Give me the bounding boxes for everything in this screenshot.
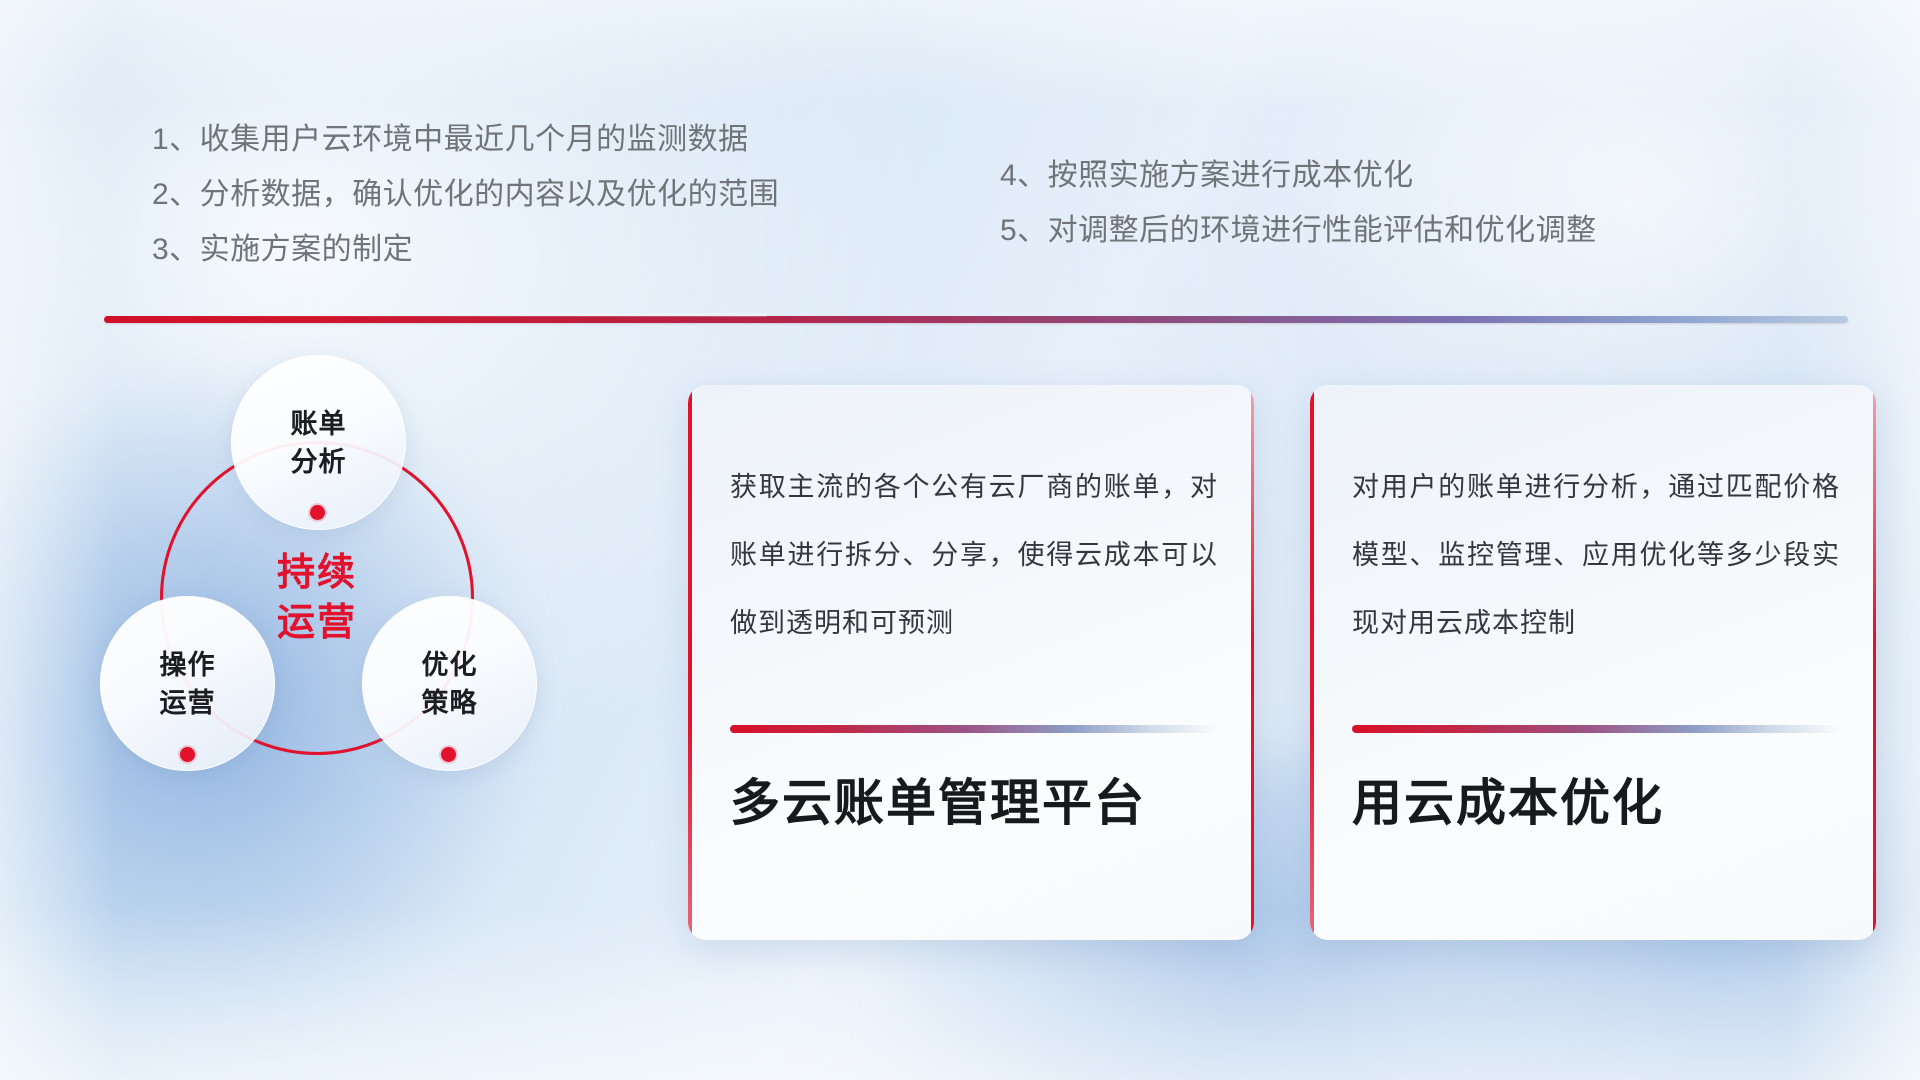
- card-description: 对用户的账单进行分析，通过匹配价格模型、监控管理、应用优化等多少段实现对用云成本…: [1352, 453, 1840, 657]
- venn-node-dot-bottom-right: [441, 747, 456, 762]
- steps-column-right: 4、按照实施方案进行成本优化 5、对调整后的环境进行性能评估和优化调整: [1000, 148, 1597, 258]
- steps-column-left: 1、收集用户云环境中最近几个月的监测数据 2、分析数据，确认优化的内容以及优化的…: [152, 112, 779, 277]
- feature-card-multicloud-billing[interactable]: 获取主流的各个公有云厂商的账单，对账单进行拆分、分享，使得云成本可以做到透明和可…: [688, 385, 1254, 940]
- venn-circle-label: 操作 运营: [160, 646, 216, 722]
- venn-circle-right-line-2: 策略: [422, 688, 478, 718]
- venn-circle-left-line-1: 操作: [160, 650, 216, 680]
- card-title: 用云成本优化: [1352, 767, 1846, 839]
- step-item-5: 5、对调整后的环境进行性能评估和优化调整: [1000, 203, 1597, 258]
- venn-diagram: 持续 运营 账单 分析 操作 运营 优化 策略: [100, 355, 630, 945]
- venn-node-dot-top: [310, 505, 325, 520]
- venn-center-label: 持续 运营: [277, 548, 357, 648]
- card-title: 多云账单管理平台: [730, 767, 1224, 839]
- venn-circle-operations[interactable]: 操作 运营: [100, 596, 275, 771]
- venn-circle-bill-analysis[interactable]: 账单 分析: [231, 355, 406, 530]
- venn-circle-label: 账单 分析: [291, 405, 347, 481]
- card-description: 获取主流的各个公有云厂商的账单，对账单进行拆分、分享，使得云成本可以做到透明和可…: [730, 453, 1218, 657]
- venn-node-dot-bottom-left: [180, 747, 195, 762]
- step-item-2: 2、分析数据，确认优化的内容以及优化的范围: [152, 167, 779, 222]
- card-accent-rule: [730, 725, 1218, 733]
- venn-center-line-2: 运营: [277, 602, 357, 644]
- step-item-1: 1、收集用户云环境中最近几个月的监测数据: [152, 112, 779, 167]
- venn-circle-label: 优化 策略: [422, 646, 478, 722]
- venn-circle-top-line-1: 账单: [291, 409, 347, 439]
- venn-circle-left-line-2: 运营: [160, 688, 216, 718]
- section-divider: [104, 316, 1848, 323]
- background-left-highlight: [0, 0, 115, 1080]
- venn-circle-top-line-2: 分析: [291, 447, 347, 477]
- venn-circle-right-line-1: 优化: [422, 650, 478, 680]
- step-item-4: 4、按照实施方案进行成本优化: [1000, 148, 1597, 203]
- step-item-3: 3、实施方案的制定: [152, 222, 779, 277]
- card-accent-rule: [1352, 725, 1840, 733]
- venn-center-line-1: 持续: [277, 552, 357, 594]
- feature-card-cloud-cost-optimization[interactable]: 对用户的账单进行分析，通过匹配价格模型、监控管理、应用优化等多少段实现对用云成本…: [1310, 385, 1876, 940]
- background-top-highlight: [0, 0, 1920, 108]
- venn-circle-optimization-strategy[interactable]: 优化 策略: [362, 596, 537, 771]
